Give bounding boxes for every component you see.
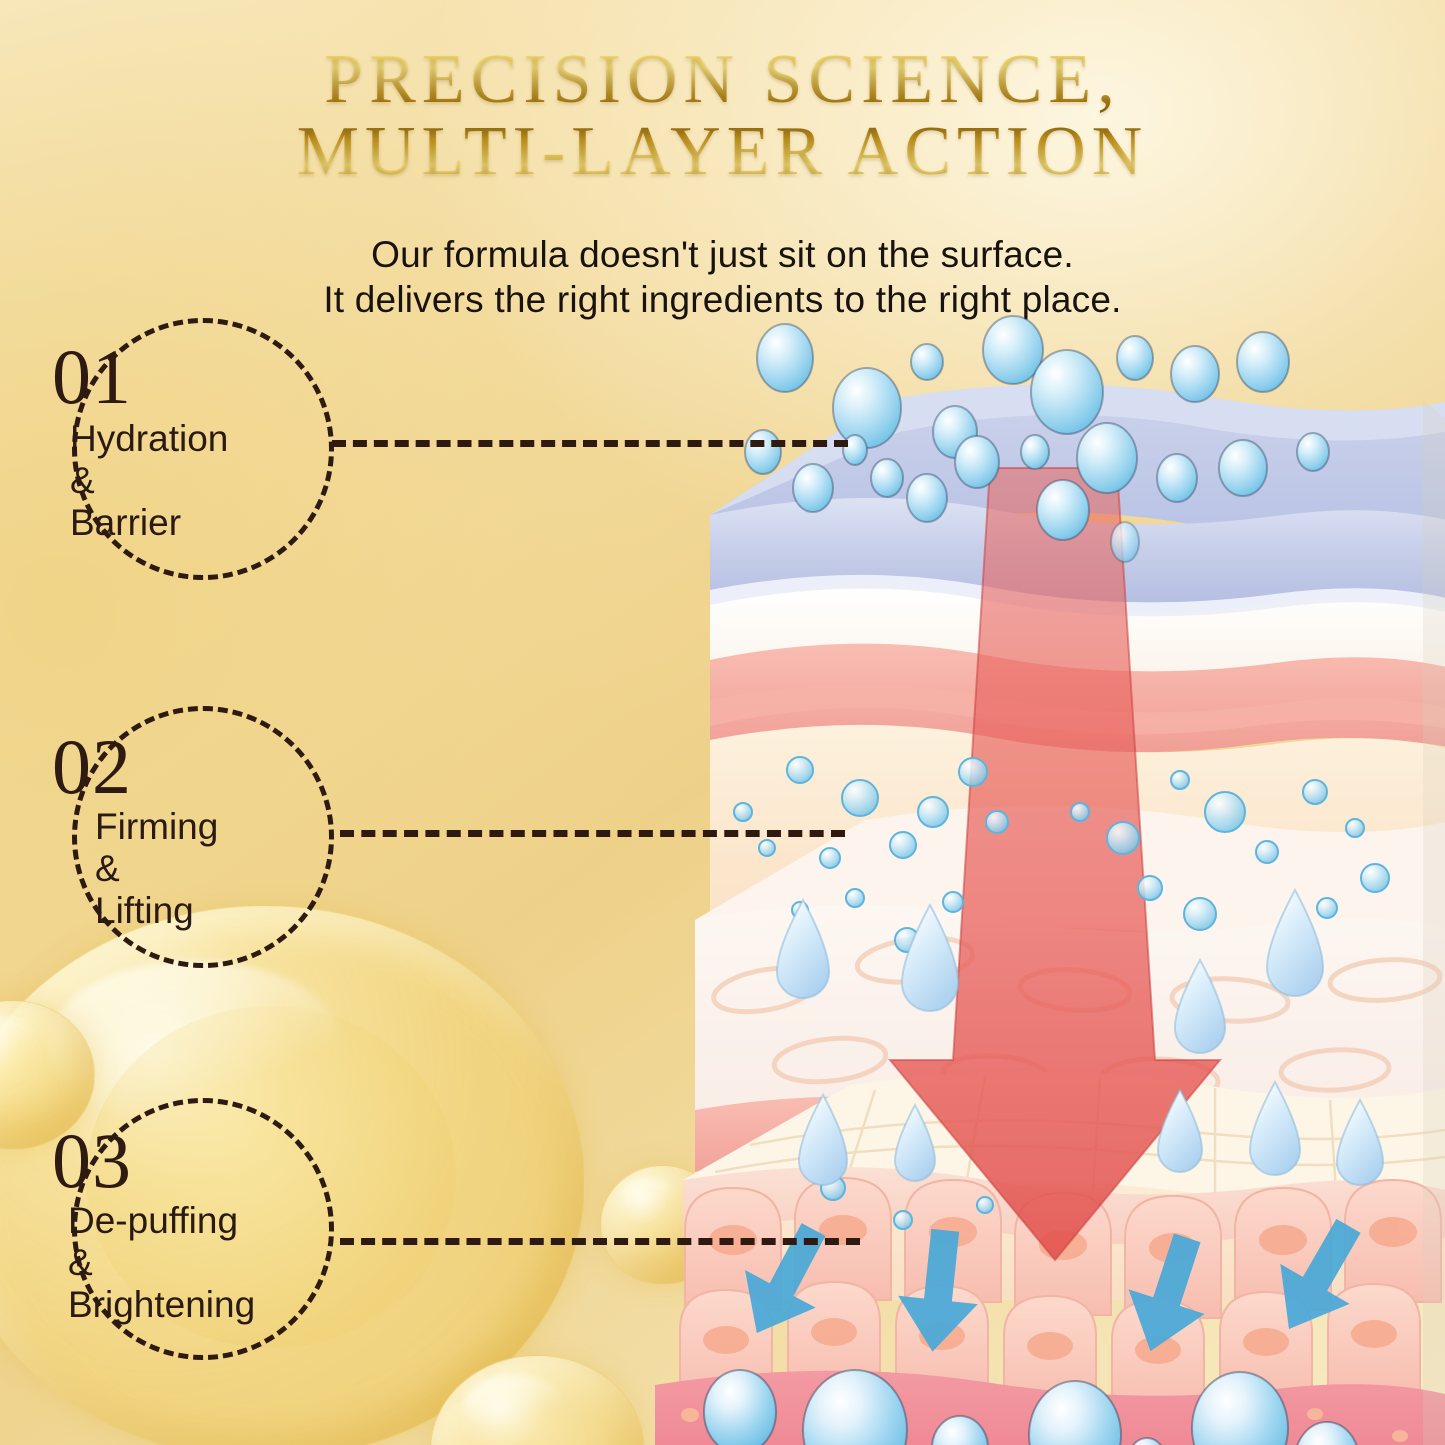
callout-03-label: De-puffing & Brightening [68,1200,255,1326]
callout-03-number: 03 [52,1122,132,1200]
page-title: PRECISION SCIENCE, MULTI-LAYER ACTION [0,44,1445,188]
callout-01-leader-line [332,440,848,447]
callout-02-label: Firming & Lifting [95,806,218,932]
callout-02-number: 02 [52,728,132,806]
callout-02-leader-line [340,830,845,837]
callout-03-leader-line [340,1238,860,1245]
callout-01-label: Hydration & Barrier [70,418,228,544]
poster-canvas: PRECISION SCIENCE, MULTI-LAYER ACTION Ou… [0,0,1445,1445]
skin-cross-section-diagram [655,300,1445,1445]
callout-01-number: 01 [52,338,132,416]
